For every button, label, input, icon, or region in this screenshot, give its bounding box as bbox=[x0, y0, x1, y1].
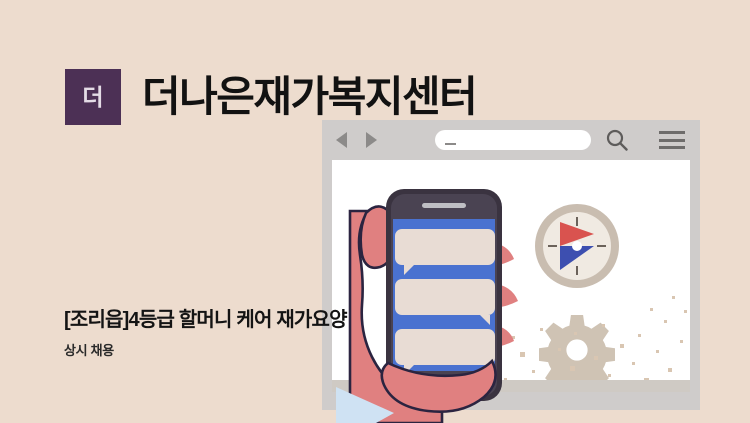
compass-hub bbox=[572, 241, 582, 251]
job-poster: 더 더나은재가복지센터 [조리읍]4등급 할머니 케어 재가요양 상시 채용 bbox=[0, 0, 750, 423]
triangle-left-icon[interactable] bbox=[336, 132, 347, 148]
hand-holding-phone bbox=[330, 175, 560, 423]
brand-badge: 더 bbox=[62, 66, 124, 128]
search-icon[interactable] bbox=[606, 129, 628, 151]
brand-badge-label: 더 bbox=[82, 86, 103, 109]
brand-title: 더나은재가복지센터 bbox=[142, 76, 476, 118]
browser-toolbar bbox=[322, 120, 700, 160]
menu-bar-1 bbox=[659, 131, 685, 134]
phone-speaker bbox=[422, 203, 466, 208]
address-input[interactable] bbox=[435, 130, 591, 150]
compass-tick-east bbox=[597, 245, 606, 247]
chat-bubbles bbox=[395, 229, 495, 375]
address-cursor bbox=[445, 143, 456, 145]
hamburger-menu-icon[interactable] bbox=[659, 131, 685, 149]
triangle-right-icon[interactable] bbox=[366, 132, 377, 148]
menu-bar-2 bbox=[659, 139, 685, 142]
menu-bar-3 bbox=[659, 146, 685, 149]
job-title: [조리읍]4등급 할머니 케어 재가요양 bbox=[64, 303, 347, 332]
job-status-badge: 상시 채용 bbox=[64, 340, 114, 359]
brand-header: 더 더나은재가복지센터 bbox=[62, 66, 476, 128]
